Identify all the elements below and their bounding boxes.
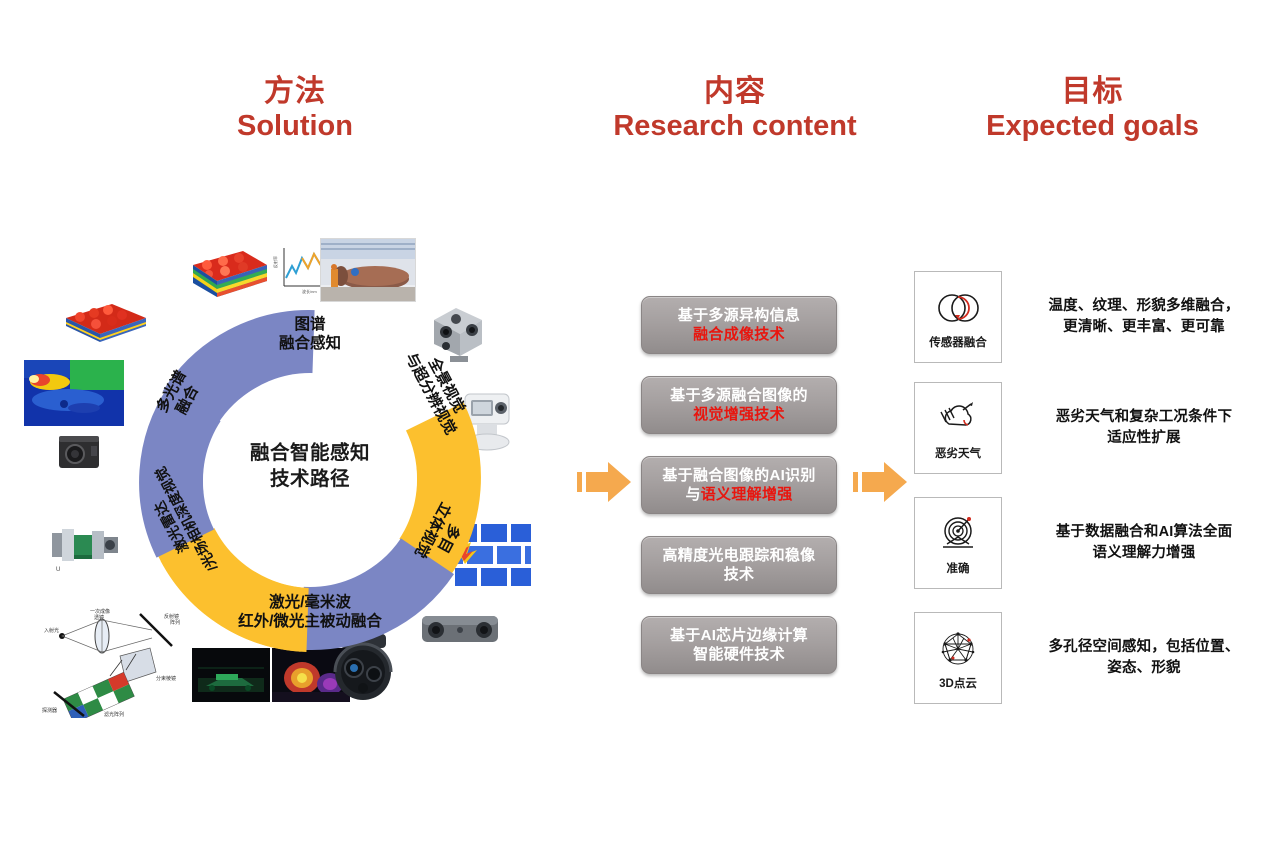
svg-text:U: U [56,567,60,573]
svg-text:反射率: 反射率 [272,256,278,268]
donut-center-line2: 技术路径 [216,466,404,492]
research-box-5-line1: 基于AI芯片边缘计算 [670,626,808,645]
research-box-3-highlight: 语义理解增强 [701,486,793,503]
header-goals-en: Expected goals [920,109,1265,144]
research-box-5[interactable]: 基于AI芯片边缘计算 智能硬件技术 [641,616,837,674]
research-box-2-line1: 基于多源融合图像的 [670,386,808,405]
research-box-3[interactable]: 基于融合图像的AI识别 与语义理解增强 [641,456,837,514]
column-header-goals: 目标 Expected goals [920,74,1265,144]
svg-text:一次成像: 一次成像 [90,608,110,615]
arrow-content-to-goals [851,457,911,507]
venn-circles-icon [933,285,983,331]
thumbnail-thermal-image [24,360,124,426]
donut-label-bottom-line2: 红外/微光主被动融合 [192,613,428,632]
goal-text-accuracy-line2: 语义理解力增强 [1024,543,1264,564]
thumbnail-optical-module: U [48,515,126,575]
column-header-solution: 方法 Solution [150,74,440,144]
donut-label-bottom: 激光/毫米波 红外/微光主被动融合 [192,594,428,631]
research-box-5-line2: 智能硬件技术 [693,645,785,664]
research-box-2-line2: 视觉增强技术 [693,405,785,424]
goal-card-bad-weather[interactable]: 恶劣天气 [914,382,1002,474]
svg-text:波长/nm: 波长/nm [302,288,317,294]
goal-text-accuracy: 基于数据融合和AI算法全面 语义理解力增强 [1024,522,1264,564]
arrow-solution-to-content [575,457,635,507]
goal-row-bad-weather: 恶劣天气 恶劣天气和复杂工况条件下 适应性扩展 [914,382,1264,474]
donut-label-bottom-line1: 激光/毫米波 [192,594,428,613]
goal-text-bad-weather: 恶劣天气和复杂工况条件下 适应性扩展 [1024,407,1264,449]
goal-row-accuracy: 准确 基于数据融合和AI算法全面 语义理解力增强 [914,497,1264,589]
thumbnail-industrial-pipes-photo [320,238,416,302]
goal-card-accuracy-caption: 准确 [947,560,970,576]
goal-text-bad-weather-line2: 适应性扩展 [1024,428,1264,449]
svg-text:分束棱镜: 分束棱镜 [156,675,176,682]
research-box-4-line2: 技术 [724,565,755,584]
goal-row-sensor-fusion: 传感器融合 温度、纹理、形貌多维融合， 更清晰、更丰富、更可靠 [914,271,1264,363]
research-box-1-line2: 融合成像技术 [693,325,785,344]
research-box-3-line2: 与语义理解增强 [685,485,792,504]
donut-center-line1: 融合智能感知 [216,440,404,466]
point-cloud-icon [933,626,983,672]
goal-card-point-cloud[interactable]: 3D点云 [914,612,1002,704]
column-header-content: 内容 Research content [570,74,900,144]
goal-text-sensor-fusion-line2: 更清晰、更丰富、更可靠 [1024,317,1264,338]
research-box-1-line1: 基于多源异构信息 [678,306,800,325]
goal-text-point-cloud: 多孔径空间感知，包括位置、 姿态、形貌 [1024,637,1264,679]
research-box-4[interactable]: 高精度光电跟踪和稳像 技术 [641,536,837,594]
goal-text-point-cloud-line2: 姿态、形貌 [1024,658,1264,679]
thumbnail-thermal-camera [55,430,105,474]
goal-card-sensor-fusion[interactable]: 传感器融合 [914,271,1002,363]
target-dart-icon [933,511,983,557]
research-box-3-line1: 基于融合图像的AI识别 [662,466,815,485]
goal-text-sensor-fusion-line1: 温度、纹理、形貌多维融合， [1024,296,1264,317]
goal-card-bad-weather-caption: 恶劣天气 [935,445,981,461]
rain-cloud-icon [933,396,983,442]
goal-text-accuracy-line1: 基于数据融合和AI算法全面 [1024,522,1264,543]
svg-text:滤光阵列: 滤光阵列 [104,711,124,718]
header-solution-cn: 方法 [150,74,440,109]
goal-card-sensor-fusion-caption: 传感器融合 [929,334,987,350]
goal-text-sensor-fusion: 温度、纹理、形貌多维融合， 更清晰、更丰富、更可靠 [1024,296,1264,338]
svg-text:探测器: 探测器 [42,707,57,714]
research-box-4-line1: 高精度光电跟踪和稳像 [662,546,815,565]
goal-row-point-cloud: 3D点云 多孔径空间感知，包括位置、 姿态、形貌 [914,612,1264,704]
donut-label-top: 图谱 融合感知 [230,316,390,353]
donut-center-label: 融合智能感知 技术路径 [216,440,404,493]
thumbnail-hyperspectral-cube [185,243,271,305]
donut-label-top-line2: 融合感知 [230,335,390,354]
header-goals-cn: 目标 [920,74,1265,109]
header-content-en: Research content [570,109,900,144]
technology-roadmap-donut: 融合智能感知 技术路径 图谱 融合感知 全景视觉 与超分辨视觉 多目 立体视觉 … [130,300,490,660]
goal-card-accuracy[interactable]: 准确 [914,497,1002,589]
goal-text-bad-weather-line1: 恶劣天气和复杂工况条件下 [1024,407,1264,428]
research-box-3-prefix: 与 [685,486,700,503]
goal-text-point-cloud-line1: 多孔径空间感知，包括位置、 [1024,637,1264,658]
research-box-2[interactable]: 基于多源融合图像的 视觉增强技术 [641,376,837,434]
header-content-cn: 内容 [570,74,900,109]
svg-text:入射光: 入射光 [44,627,59,634]
header-solution-en: Solution [150,109,440,144]
diagram-canvas: 方法 Solution 内容 Research content 目标 Expec… [0,0,1268,866]
donut-label-top-line1: 图谱 [230,316,390,335]
goal-card-point-cloud-caption: 3D点云 [939,675,977,691]
research-box-1[interactable]: 基于多源异构信息 融合成像技术 [641,296,837,354]
